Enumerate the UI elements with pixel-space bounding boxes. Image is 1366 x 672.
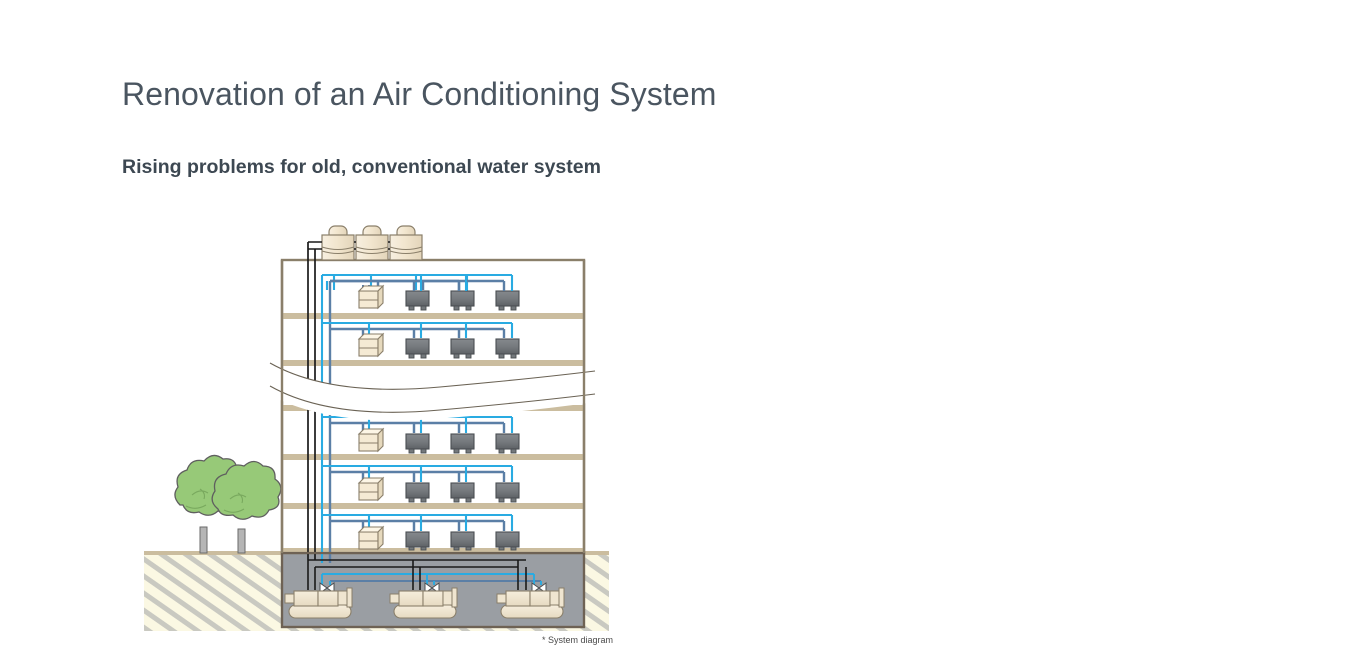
diagram-caption: * System diagram xyxy=(542,635,613,645)
air-handling-unit-icon xyxy=(359,429,383,451)
system-diagram: * System diagram xyxy=(122,205,622,655)
tree-icon xyxy=(212,462,281,554)
slide-page: Renovation of an Air Conditioning System… xyxy=(0,0,1366,672)
cooling-tower-icon xyxy=(322,226,354,260)
fan-coil-unit-icon xyxy=(496,532,519,550)
floor-slab xyxy=(283,360,583,366)
floor-slab xyxy=(283,454,583,460)
air-handling-unit-icon xyxy=(359,334,383,356)
air-handling-unit-icon xyxy=(359,527,383,549)
floor-slab xyxy=(283,313,583,319)
chiller-icon xyxy=(390,588,457,618)
page-title: Renovation of an Air Conditioning System xyxy=(122,76,717,113)
tree-group xyxy=(175,455,281,553)
air-handling-unit-icon xyxy=(359,285,383,308)
floor-slab xyxy=(283,503,583,509)
system-diagram-svg xyxy=(122,205,622,655)
air-handling-unit-icon xyxy=(359,478,383,500)
fan-coil-unit-icon xyxy=(451,532,474,550)
cooling-tower-icon xyxy=(356,226,388,260)
chiller-icon xyxy=(285,588,352,618)
chiller-icon xyxy=(497,588,564,618)
fan-coil-unit-icon xyxy=(406,532,429,550)
page-subtitle: Rising problems for old, conventional wa… xyxy=(122,156,601,179)
cooling-tower-group xyxy=(308,226,422,260)
cooling-tower-icon xyxy=(390,226,422,260)
